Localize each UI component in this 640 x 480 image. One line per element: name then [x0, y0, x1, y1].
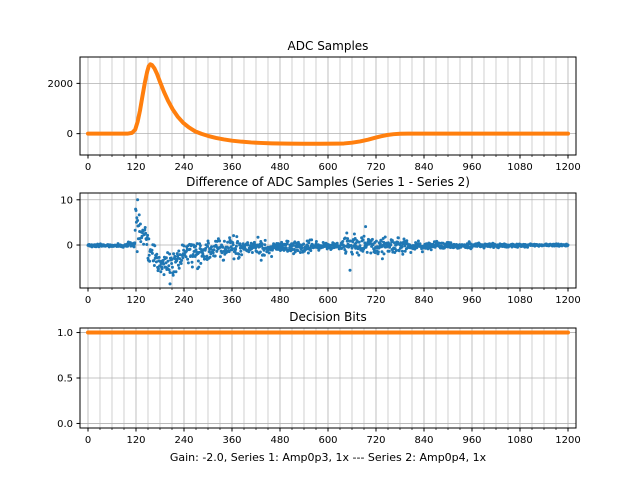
xtick-label: 1080 [507, 162, 532, 173]
xtick-label: 1200 [555, 295, 580, 306]
xtick-label: 360 [222, 435, 241, 446]
xtick-label: 0 [85, 162, 91, 173]
xtick-label: 360 [222, 295, 241, 306]
matplotlib-figure: 0120240360480600720840960108012000200001… [0, 0, 640, 480]
subplot-title-difference: Difference of ADC Samples (Series 1 - Se… [186, 175, 470, 189]
xtick-label: 1080 [507, 295, 532, 306]
subplot-title-adc-samples: ADC Samples [288, 39, 369, 53]
xtick-label: 360 [222, 162, 241, 173]
xtick-label: 480 [270, 162, 289, 173]
xtick-label: 0 [85, 295, 91, 306]
xtick-label: 600 [318, 162, 337, 173]
xtick-label: 240 [174, 162, 193, 173]
xtick-label: 120 [126, 162, 145, 173]
xtick-label: 1200 [555, 435, 580, 446]
ytick-label: 2000 [48, 79, 73, 90]
xtick-label: 120 [126, 295, 145, 306]
xtick-label: 960 [462, 295, 481, 306]
xtick-label: 720 [366, 162, 385, 173]
ytick-label: 1.0 [57, 328, 73, 339]
xtick-label: 840 [414, 162, 433, 173]
xtick-label: 120 [126, 435, 145, 446]
xtick-label: 240 [174, 295, 193, 306]
subplot-title-decision-bits: Decision Bits [289, 310, 366, 324]
xtick-label: 480 [270, 295, 289, 306]
xtick-label: 1080 [507, 435, 532, 446]
xtick-label: 600 [318, 435, 337, 446]
xtick-label: 840 [414, 435, 433, 446]
xtick-label: 840 [414, 295, 433, 306]
xtick-label: 480 [270, 435, 289, 446]
ytick-label: 0 [67, 241, 73, 252]
xtick-label: 1200 [555, 162, 580, 173]
xtick-label: 240 [174, 435, 193, 446]
xtick-label: 960 [462, 435, 481, 446]
xtick-label: 960 [462, 162, 481, 173]
xtick-label: 0 [85, 435, 91, 446]
xtick-label: 720 [366, 435, 385, 446]
figure-xaxis-label: Gain: -2.0, Series 1: Amp0p3, 1x --- Ser… [170, 451, 487, 464]
ytick-label: 0 [67, 129, 73, 140]
ytick-label: 0.5 [57, 374, 73, 385]
figure-canvas: 0120240360480600720840960108012000200001… [0, 0, 640, 480]
xtick-label: 720 [366, 295, 385, 306]
axes-layer: 0120240360480600720840960108012000200001… [0, 0, 640, 446]
xtick-label: 600 [318, 295, 337, 306]
ytick-label: 10 [60, 195, 73, 206]
ytick-label: 0.0 [57, 419, 73, 430]
